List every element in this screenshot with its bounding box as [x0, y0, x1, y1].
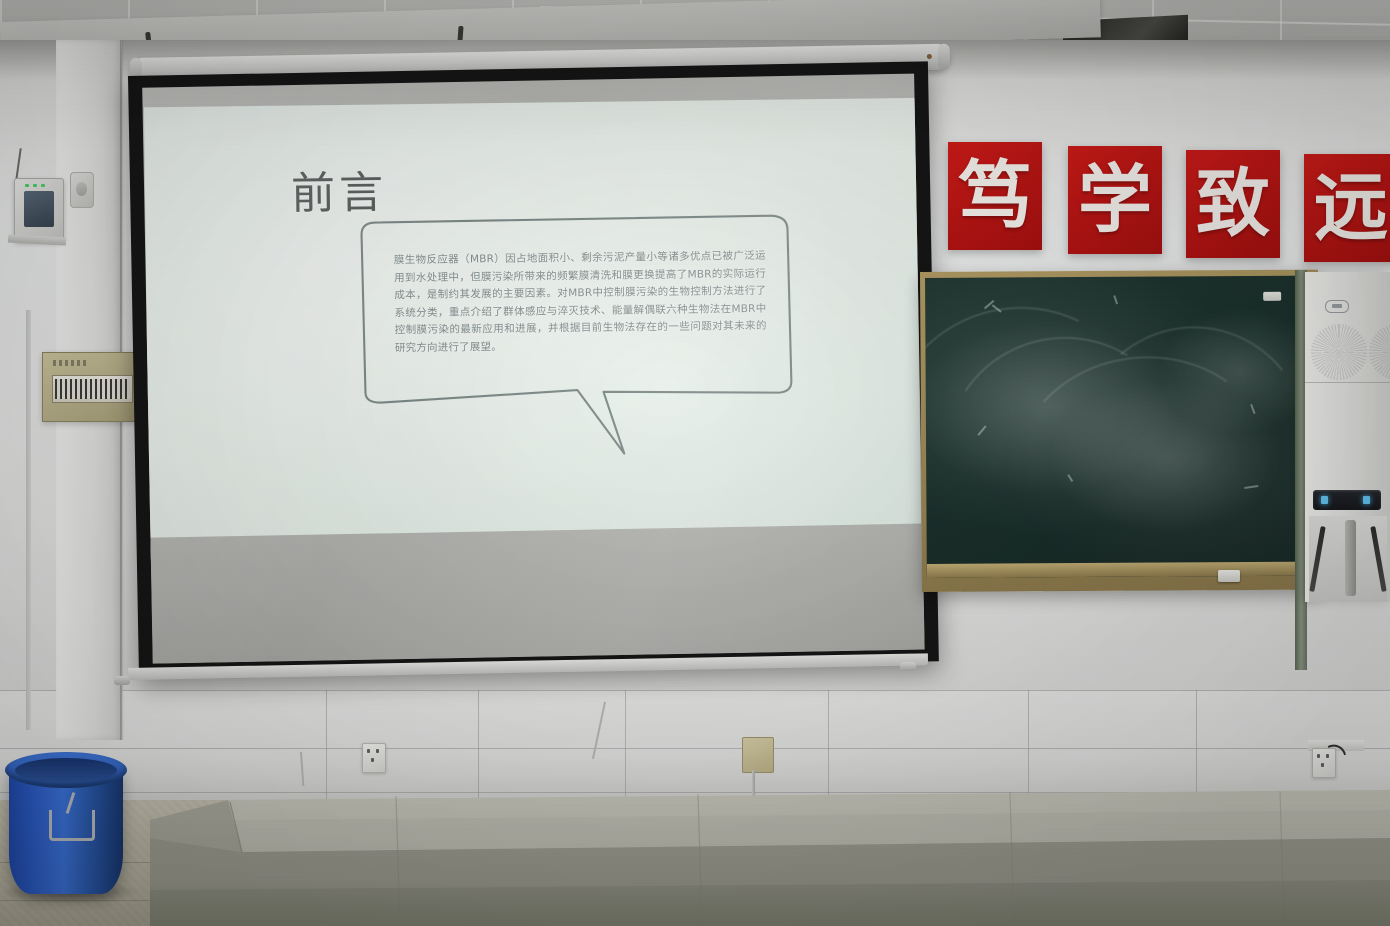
wainscot-seam [0, 748, 1390, 749]
wireless-receiver-device[interactable] [14, 178, 64, 242]
wall-junction-box[interactable] [742, 737, 774, 773]
screen-blank-lower-band [150, 524, 924, 664]
screen-weight-tab [900, 662, 916, 671]
chalk-tray [927, 562, 1315, 578]
banner-character: 远 [1314, 171, 1388, 245]
chalkboard-eraser[interactable] [1263, 292, 1281, 301]
breaker-switches[interactable] [55, 379, 130, 399]
projected-slide: 前言 膜生物反应器（MBR）因占地面积小、剩余污泥产量小等诸多优点已被广泛运用到… [144, 98, 921, 559]
wall-power-outlet[interactable] [362, 743, 386, 773]
wall-trim-strip [26, 310, 31, 730]
electrical-breaker-panel[interactable] [42, 352, 140, 422]
banner-character: 笃 [958, 159, 1032, 233]
chalkboard-eraser[interactable] [1218, 570, 1240, 582]
classroom-scene: 前言 膜生物反应器（MBR）因占地面积小、剩余污泥产量小等诸多优点已被广泛运用到… [0, 0, 1390, 926]
bucket-interior [15, 758, 117, 783]
banner-character: 学 [1078, 163, 1152, 237]
air-vent-grille-icon [1311, 324, 1367, 380]
slide-title: 前言 [291, 156, 388, 221]
display-led-icon [1321, 496, 1328, 504]
display-led-icon [1363, 496, 1370, 504]
chalk-mark [1113, 295, 1118, 304]
banner-character: 致 [1196, 167, 1270, 241]
status-led-icon [41, 184, 45, 187]
outlet-slot-icon [367, 749, 370, 753]
status-led-icon [25, 184, 29, 187]
outlet-slot-icon [371, 758, 374, 762]
blackboard-surface[interactable] [925, 276, 1315, 578]
projector-screen-surface: 前言 膜生物反应器（MBR）因占地面积小、剩余污泥产量小等诸多优点已被广泛运用到… [142, 74, 924, 664]
refrigerant-pipe [1345, 520, 1356, 596]
wainscot-seam [0, 690, 1390, 691]
status-led-icon [33, 184, 37, 187]
outlet-slot-icon [376, 749, 379, 753]
banner-card: 学 [1068, 146, 1162, 254]
support-leg [1309, 526, 1325, 592]
bucket-handle[interactable] [49, 810, 95, 841]
brand-logo-icon [1325, 300, 1349, 313]
banner-card: 远 [1304, 154, 1390, 262]
teaching-platform [150, 780, 1390, 926]
slide-body-text: 膜生物反应器（MBR）因占地面积小、剩余污泥产量小等诸多优点已被广泛运用到水处理… [394, 248, 767, 358]
blackboard-frame [920, 270, 1320, 592]
support-leg [1370, 526, 1386, 592]
air-conditioner-display[interactable] [1313, 490, 1381, 510]
banner-card: 致 [1186, 150, 1280, 258]
blue-plastic-bucket[interactable] [5, 748, 127, 900]
projector-screen[interactable]: 前言 膜生物反应器（MBR）因占地面积小、剩余污泥产量小等诸多优点已被广泛运用到… [128, 61, 939, 676]
wall-sensor-device [70, 172, 94, 208]
banner-card: 笃 [948, 142, 1042, 250]
screen-weight-tab [114, 676, 130, 685]
air-conditioner[interactable] [1305, 272, 1390, 602]
panel-label [53, 360, 87, 366]
device-display [24, 191, 54, 227]
air-conditioner-base [1309, 516, 1387, 602]
roller-screw-icon [927, 54, 932, 59]
breaker-row-housing [52, 375, 133, 403]
roller-end-cap [938, 44, 950, 70]
